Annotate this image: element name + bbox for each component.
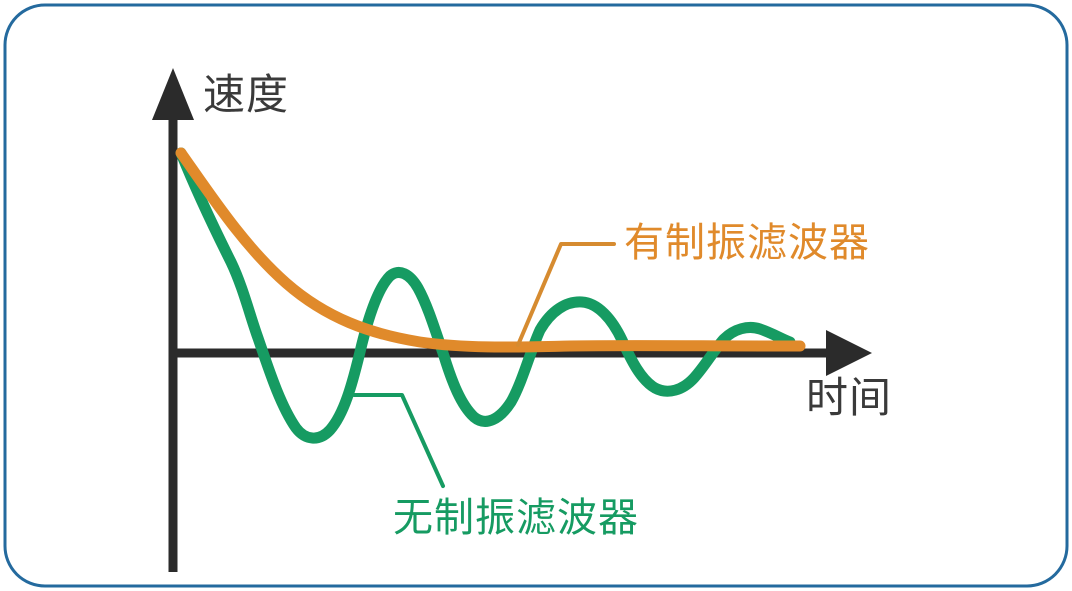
x-axis-label: 时间 [806, 377, 892, 419]
series-label-filtered: 有制振滤波器 [624, 223, 870, 263]
series-label-unfiltered: 无制振滤波器 [393, 498, 639, 538]
y-axis-label: 速度 [203, 74, 289, 116]
figure-root: 速度 时间 有制振滤波器 无制振滤波器 [0, 0, 1072, 591]
